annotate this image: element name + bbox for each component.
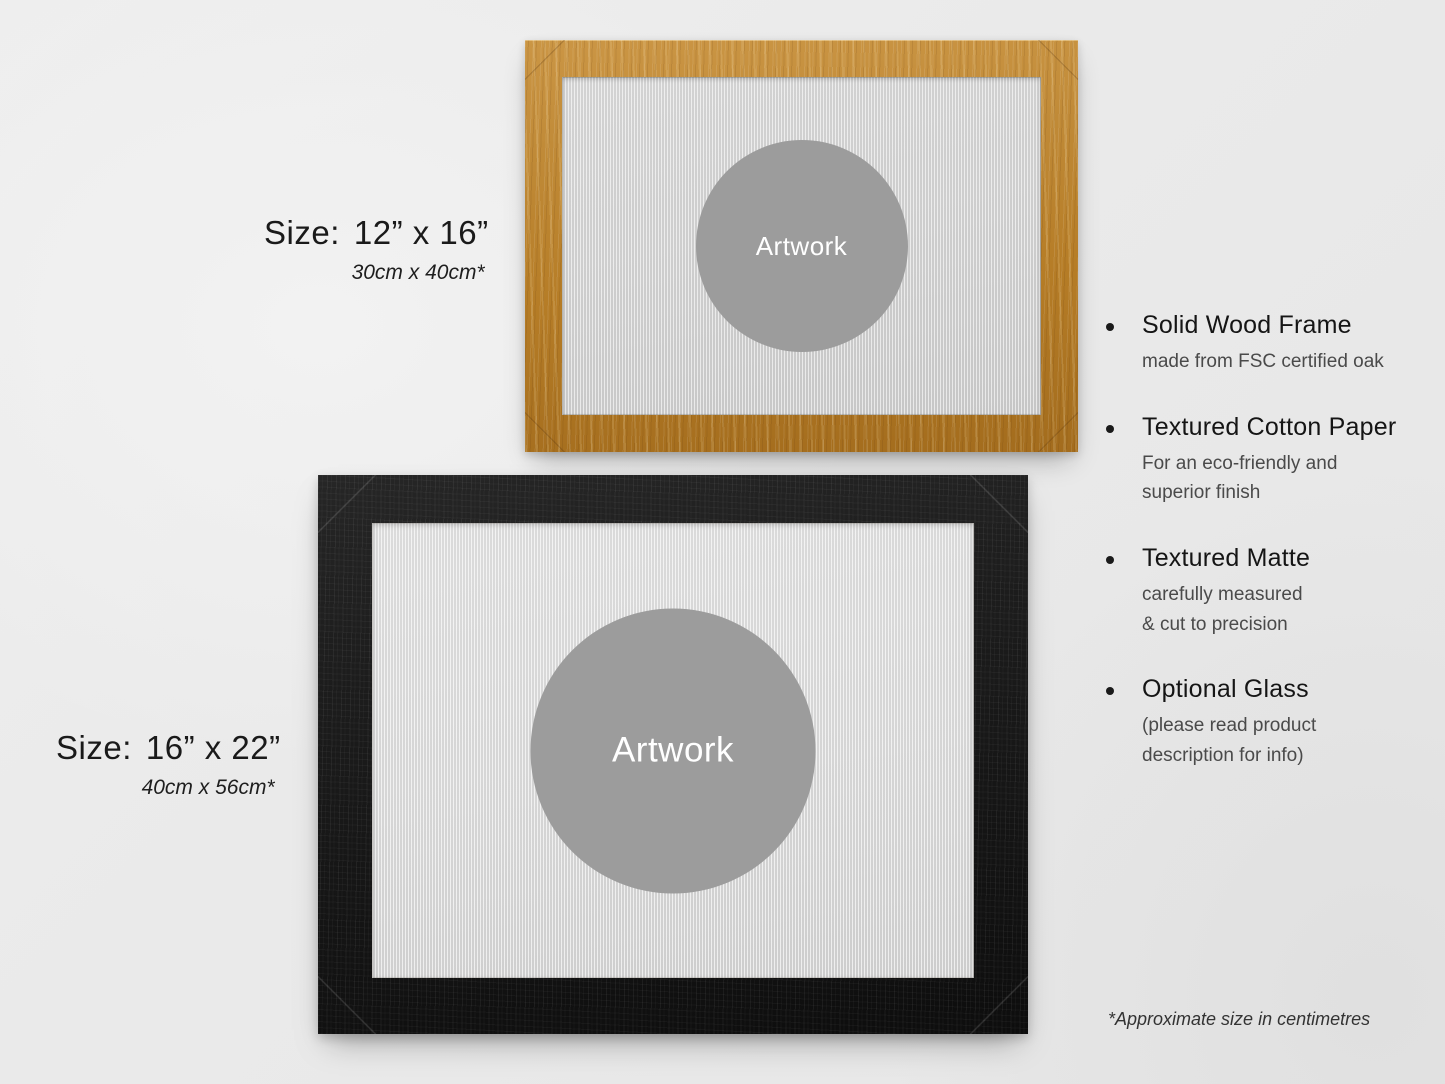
- feature-description-line: carefully measured: [1142, 580, 1426, 609]
- size-metric-text: 40cm x 56cm*: [56, 776, 281, 800]
- oak-picture-frame[interactable]: Artwork: [525, 40, 1078, 452]
- feature-description: For an eco-friendly and superior finish: [1142, 449, 1426, 508]
- mitre-joint-top-left-icon: [525, 40, 565, 80]
- size-label-black-frame: Size:16” x 22” 40cm x 56cm*: [56, 729, 281, 800]
- size-imperial-text: 16” x 22”: [146, 729, 281, 766]
- feature-list: Solid Wood Frame made from FSC certified…: [1106, 310, 1426, 805]
- mitre-joint-bottom-left-icon: [525, 412, 565, 452]
- bullet-dot-icon: [1106, 687, 1114, 695]
- feature-description-line: For an eco-friendly and: [1142, 449, 1426, 478]
- bullet-dot-icon: [1106, 425, 1114, 433]
- size-metric-text: 30cm x 40cm*: [264, 261, 489, 285]
- mitre-joint-top-left-icon: [318, 475, 376, 533]
- feature-item-optional-glass: Optional Glass (please read product desc…: [1106, 674, 1426, 770]
- feature-item-solid-wood-frame: Solid Wood Frame made from FSC certified…: [1106, 310, 1426, 377]
- black-frame-mount: Artwork: [372, 523, 974, 978]
- feature-description: made from FSC certified oak: [1142, 347, 1426, 376]
- size-prefix-text: Size:: [56, 729, 132, 766]
- size-label-oak-frame: Size:12” x 16” 30cm x 40cm*: [264, 214, 489, 285]
- feature-description-line: description for info): [1142, 741, 1426, 770]
- feature-description: carefully measured & cut to precision: [1142, 580, 1426, 639]
- mitre-joint-bottom-right-icon: [1038, 412, 1078, 452]
- size-imperial-text: 12” x 16”: [354, 214, 489, 251]
- feature-title: Textured Cotton Paper: [1142, 412, 1426, 443]
- black-frame-artwork-placeholder: Artwork: [531, 608, 816, 893]
- black-picture-frame[interactable]: Artwork: [318, 475, 1028, 1034]
- feature-description-line: superior finish: [1142, 478, 1426, 507]
- mitre-joint-top-right-icon: [1038, 40, 1078, 80]
- feature-item-textured-cotton-paper: Textured Cotton Paper For an eco-friendl…: [1106, 412, 1426, 508]
- oak-frame-artwork-placeholder: Artwork: [696, 140, 908, 352]
- mitre-joint-bottom-right-icon: [970, 976, 1028, 1034]
- mitre-joint-top-right-icon: [970, 475, 1028, 533]
- size-prefix-text: Size:: [264, 214, 340, 251]
- oak-frame-mount: Artwork: [562, 77, 1041, 415]
- mitre-joint-bottom-left-icon: [318, 976, 376, 1034]
- infographic-canvas: Artwork Artwork Size:12” x 16” 30cm x 40…: [0, 0, 1445, 1084]
- bullet-dot-icon: [1106, 556, 1114, 564]
- feature-item-textured-matte: Textured Matte carefully measured & cut …: [1106, 543, 1426, 639]
- feature-title: Solid Wood Frame: [1142, 310, 1426, 341]
- size-label-oak-primary: Size:12” x 16”: [264, 214, 489, 252]
- feature-description-line: & cut to precision: [1142, 610, 1426, 639]
- feature-description: (please read product description for inf…: [1142, 711, 1426, 770]
- feature-title: Optional Glass: [1142, 674, 1426, 705]
- feature-description-line: made from FSC certified oak: [1142, 347, 1426, 376]
- bullet-dot-icon: [1106, 323, 1114, 331]
- feature-description-line: (please read product: [1142, 711, 1426, 740]
- footnote-approximate-size: *Approximate size in centimetres: [1108, 1009, 1370, 1030]
- feature-title: Textured Matte: [1142, 543, 1426, 574]
- size-label-black-primary: Size:16” x 22”: [56, 729, 281, 767]
